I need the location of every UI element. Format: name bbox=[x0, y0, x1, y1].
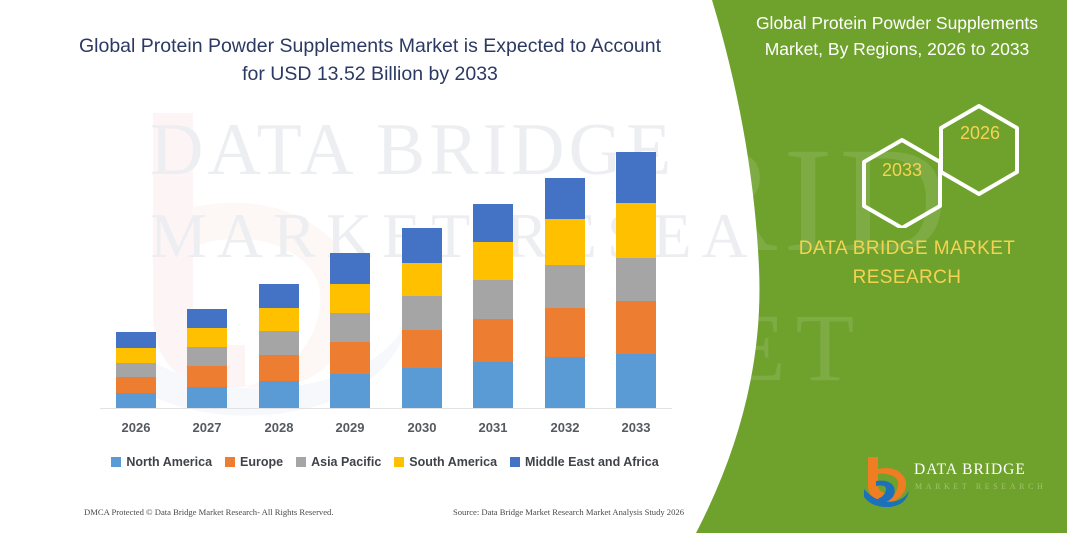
legend-label: South America bbox=[409, 455, 497, 469]
bar-segment bbox=[473, 280, 513, 319]
bar-segment bbox=[187, 347, 227, 366]
legend-label: Asia Pacific bbox=[311, 455, 381, 469]
hexagon-2033-label: 2033 bbox=[857, 160, 947, 181]
bar-group bbox=[402, 228, 442, 409]
bar-segment bbox=[187, 387, 227, 409]
bar-segment bbox=[402, 368, 442, 409]
legend-label: North America bbox=[126, 455, 212, 469]
brand-logo-subtext: MARKET RESEARCH bbox=[915, 482, 1046, 491]
x-axis-label: 2033 bbox=[601, 420, 671, 435]
x-axis-label: 2031 bbox=[458, 420, 528, 435]
chart-x-axis-labels: 20262027202820292030203120322033 bbox=[100, 420, 672, 442]
hexagon-2026-label: 2026 bbox=[935, 123, 1025, 144]
hexagon-2026-icon bbox=[941, 106, 1017, 194]
bar-segment bbox=[402, 228, 442, 263]
bar-segment bbox=[545, 357, 585, 409]
hexagon-2033-icon bbox=[864, 140, 940, 228]
bar-segment bbox=[616, 301, 656, 354]
bar-group bbox=[473, 204, 513, 409]
bar-segment bbox=[616, 203, 656, 258]
bar-group bbox=[545, 178, 585, 409]
chart-legend: North AmericaEuropeAsia PacificSouth Ame… bbox=[95, 455, 675, 469]
legend-label: Middle East and Africa bbox=[525, 455, 659, 469]
bar-segment bbox=[616, 258, 656, 301]
legend-swatch-icon bbox=[111, 457, 121, 467]
green-panel-content: Global Protein Powder Supplements Market… bbox=[687, 0, 1067, 533]
hexagon-group: 2026 2033 bbox=[807, 98, 1067, 228]
bar-segment bbox=[116, 363, 156, 377]
bar-segment bbox=[473, 204, 513, 242]
legend-swatch-icon bbox=[296, 457, 306, 467]
brand-logo: DATA BRIDGE MARKET RESEARCH bbox=[862, 455, 1062, 513]
bar-segment bbox=[187, 328, 227, 347]
legend-item[interactable]: Middle East and Africa bbox=[510, 455, 659, 469]
bar-segment bbox=[259, 284, 299, 308]
bar-segment bbox=[473, 242, 513, 280]
legend-item[interactable]: Europe bbox=[225, 455, 283, 469]
x-axis-label: 2030 bbox=[387, 420, 457, 435]
footer-source: Source: Data Bridge Market Research Mark… bbox=[453, 507, 684, 517]
x-axis-label: 2029 bbox=[315, 420, 385, 435]
bar-segment bbox=[330, 253, 370, 284]
bar-segment bbox=[330, 284, 370, 313]
x-axis-label: 2027 bbox=[172, 420, 242, 435]
green-panel-brand: DATA BRIDGE MARKET RESEARCH bbox=[767, 235, 1047, 292]
legend-item[interactable]: Asia Pacific bbox=[296, 455, 381, 469]
legend-item[interactable]: South America bbox=[394, 455, 497, 469]
stacked-bar-chart: 20262027202820292030203120322033 bbox=[0, 0, 700, 470]
green-panel-title: Global Protein Powder Supplements Market… bbox=[742, 10, 1052, 63]
legend-item[interactable]: North America bbox=[111, 455, 212, 469]
bar-segment bbox=[116, 377, 156, 393]
bar-group bbox=[616, 152, 656, 409]
bar-segment bbox=[473, 362, 513, 409]
bar-segment bbox=[116, 348, 156, 363]
bar-group bbox=[187, 309, 227, 409]
x-axis-label: 2028 bbox=[244, 420, 314, 435]
bar-segment bbox=[116, 393, 156, 409]
bar-segment bbox=[402, 263, 442, 296]
legend-swatch-icon bbox=[394, 457, 404, 467]
x-axis-label: 2032 bbox=[530, 420, 600, 435]
bar-segment bbox=[259, 308, 299, 331]
bar-segment bbox=[330, 313, 370, 342]
bar-segment bbox=[545, 308, 585, 357]
chart-plot-area bbox=[100, 120, 670, 409]
bar-segment bbox=[545, 178, 585, 219]
bar-segment bbox=[402, 330, 442, 368]
bar-group bbox=[330, 253, 370, 409]
bar-segment bbox=[116, 332, 156, 348]
bar-segment bbox=[616, 354, 656, 409]
bar-segment bbox=[259, 381, 299, 409]
bar-segment bbox=[330, 342, 370, 374]
bar-segment bbox=[545, 219, 585, 265]
x-axis-label: 2026 bbox=[101, 420, 171, 435]
bar-segment bbox=[330, 374, 370, 409]
bar-segment bbox=[616, 152, 656, 203]
bar-segment bbox=[259, 355, 299, 381]
data-bridge-logo-icon bbox=[862, 455, 910, 507]
bar-segment bbox=[187, 309, 227, 328]
bar-group bbox=[259, 284, 299, 409]
bar-segment bbox=[402, 296, 442, 330]
bar-segment bbox=[545, 265, 585, 308]
bar-group bbox=[116, 332, 156, 409]
chart-baseline bbox=[100, 408, 672, 409]
legend-swatch-icon bbox=[225, 457, 235, 467]
bar-segment bbox=[187, 366, 227, 387]
infographic-canvas: DATA BRIDGE MARKET RESEARCH Global Prote… bbox=[0, 0, 1067, 533]
legend-label: Europe bbox=[240, 455, 283, 469]
brand-logo-text: DATA BRIDGE bbox=[914, 461, 1026, 479]
footer: DMCA Protected © Data Bridge Market Rese… bbox=[84, 507, 684, 517]
bar-segment bbox=[473, 319, 513, 362]
legend-swatch-icon bbox=[510, 457, 520, 467]
footer-copyright: DMCA Protected © Data Bridge Market Rese… bbox=[84, 507, 334, 517]
bar-segment bbox=[259, 331, 299, 355]
